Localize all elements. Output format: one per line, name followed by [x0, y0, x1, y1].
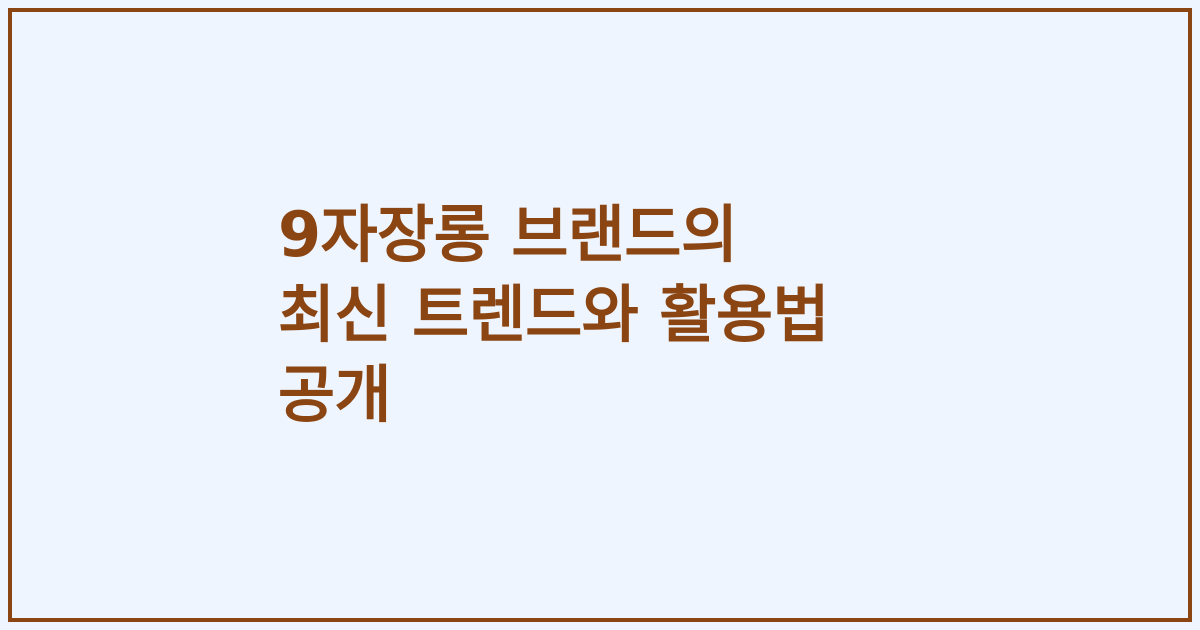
card-border-frame: 9자장롱 브랜드의 최신 트렌드와 활용법 공개 — [8, 8, 1192, 622]
page-title: 9자장롱 브랜드의 최신 트렌드와 활용법 공개 — [278, 195, 1132, 435]
headline-block: 9자장롱 브랜드의 최신 트렌드와 활용법 공개 — [12, 195, 1188, 435]
title-card: 9자장롱 브랜드의 최신 트렌드와 활용법 공개 — [0, 0, 1200, 630]
